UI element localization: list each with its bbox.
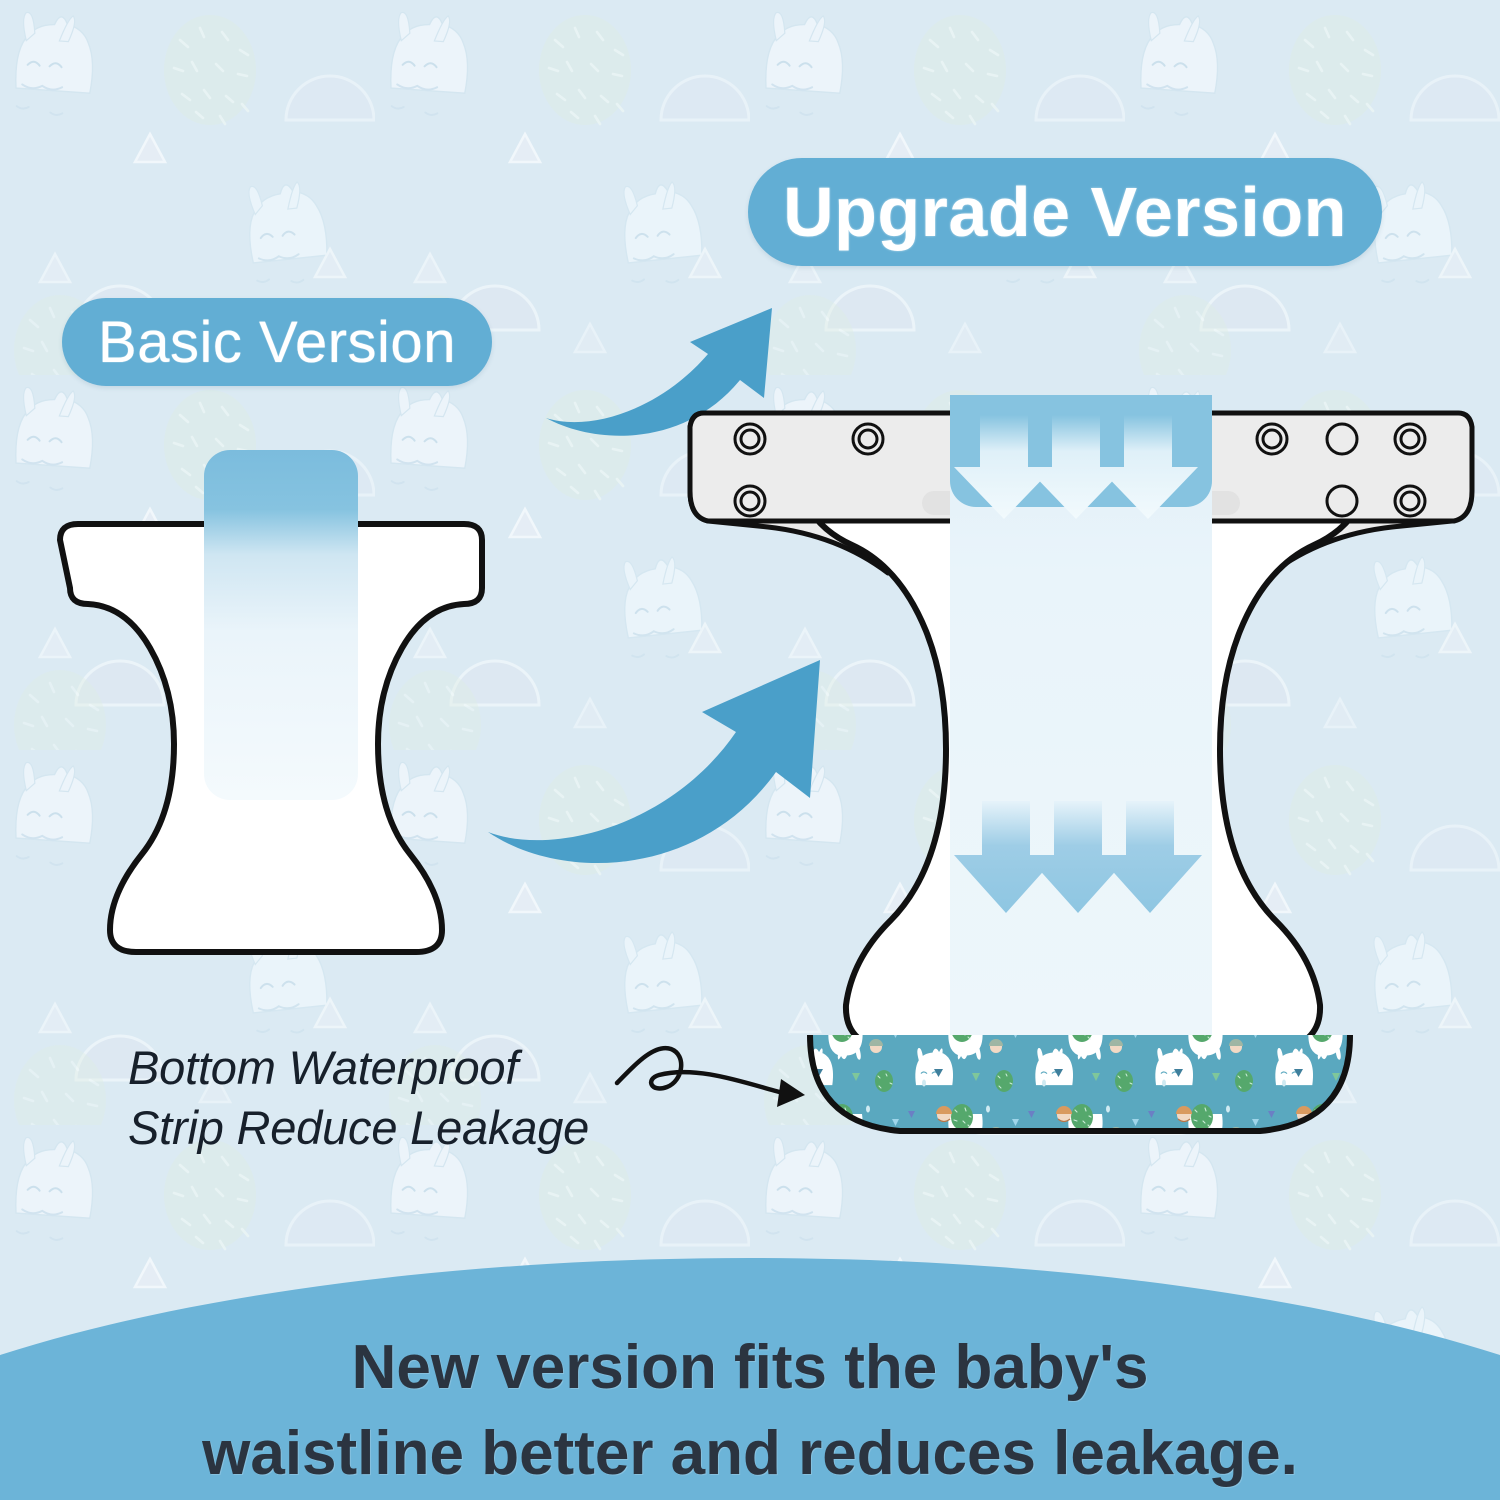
upgrade-version-badge[interactable]: Upgrade Version xyxy=(748,158,1382,266)
banner-line-2: waistline better and reduces leakage. xyxy=(0,1411,1500,1497)
callout-line-1: Bottom Waterproof xyxy=(128,1038,708,1098)
basic-version-badge[interactable]: Basic Version xyxy=(62,298,492,386)
waterproof-strip-callout: Bottom Waterproof Strip Reduce Leakage xyxy=(128,1038,708,1158)
infographic-canvas: Basic Version Upgrade Version Bottom Wat… xyxy=(0,0,1500,1500)
bottom-banner-text: New version fits the baby's waistline be… xyxy=(0,1325,1500,1496)
down-arrow-group-bottom xyxy=(954,801,1202,913)
upgrade-version-label: Upgrade Version xyxy=(783,172,1347,252)
basic-version-label: Basic Version xyxy=(98,309,456,376)
basic-version-diaper xyxy=(40,440,540,970)
callout-line-2: Strip Reduce Leakage xyxy=(128,1098,708,1158)
down-arrow-group-top xyxy=(954,415,1198,519)
banner-line-1: New version fits the baby's xyxy=(0,1325,1500,1411)
